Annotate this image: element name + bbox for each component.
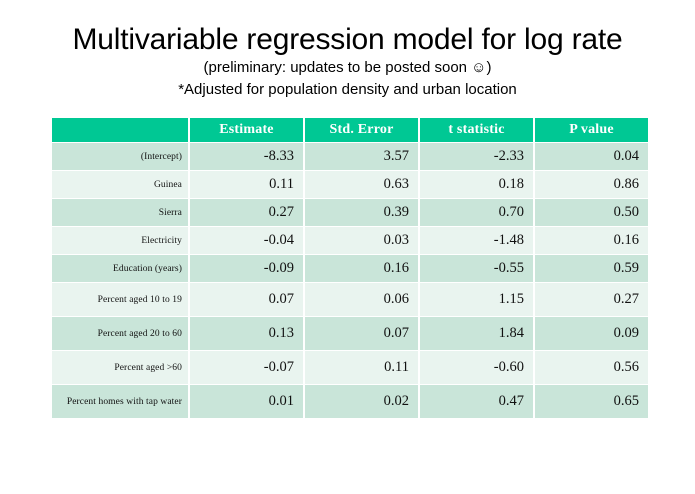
cell-std-error: 0.02 [305,385,418,418]
subtitle-line-2: *Adjusted for population density and urb… [0,80,695,100]
row-label: Percent aged 10 to 19 [52,283,188,316]
cell-p-value: 0.04 [535,143,648,170]
cell-estimate: -0.04 [190,227,303,254]
column-header-t-statistic: t statistic [420,118,533,142]
cell-estimate: -0.07 [190,351,303,384]
row-label: Percent aged >60 [52,351,188,384]
table-row: Education (years) -0.09 0.16 -0.55 0.59 [52,255,648,282]
cell-p-value: 0.65 [535,385,648,418]
cell-p-value: 0.09 [535,317,648,350]
cell-t-statistic: -0.55 [420,255,533,282]
cell-estimate: 0.27 [190,199,303,226]
table-row: Percent homes with tap water 0.01 0.02 0… [52,385,648,418]
column-header-p-value: P value [535,118,648,142]
title-block: Multivariable regression model for log r… [0,24,695,101]
table-row: Percent aged >60 -0.07 0.11 -0.60 0.56 [52,351,648,384]
cell-estimate: 0.07 [190,283,303,316]
column-header-std-error: Std. Error [305,118,418,142]
cell-t-statistic: 1.15 [420,283,533,316]
row-label: Sierra [52,199,188,226]
table-header: Estimate Std. Error t statistic P value [52,118,648,142]
cell-std-error: 0.03 [305,227,418,254]
cell-p-value: 0.86 [535,171,648,198]
cell-t-statistic: 0.47 [420,385,533,418]
row-label: Education (years) [52,255,188,282]
cell-t-statistic: -1.48 [420,227,533,254]
cell-t-statistic: -0.60 [420,351,533,384]
table-row: Guinea 0.11 0.63 0.18 0.86 [52,171,648,198]
cell-std-error: 0.63 [305,171,418,198]
column-header-term [52,118,188,142]
row-label: Percent homes with tap water [52,385,188,418]
cell-t-statistic: 0.18 [420,171,533,198]
column-header-estimate: Estimate [190,118,303,142]
table-body: (Intercept) -8.33 3.57 -2.33 0.04 Guinea… [52,143,648,418]
cell-p-value: 0.27 [535,283,648,316]
row-label: Electricity [52,227,188,254]
cell-p-value: 0.56 [535,351,648,384]
page-title: Multivariable regression model for log r… [0,24,695,56]
cell-std-error: 0.06 [305,283,418,316]
regression-results-table-container: Estimate Std. Error t statistic P value … [50,117,646,419]
cell-estimate: 0.13 [190,317,303,350]
row-label: (Intercept) [52,143,188,170]
table-header-row: Estimate Std. Error t statistic P value [52,118,648,142]
cell-p-value: 0.50 [535,199,648,226]
table-row: Percent aged 20 to 60 0.13 0.07 1.84 0.0… [52,317,648,350]
cell-estimate: -8.33 [190,143,303,170]
cell-std-error: 0.11 [305,351,418,384]
cell-std-error: 0.16 [305,255,418,282]
cell-estimate: 0.11 [190,171,303,198]
subtitle-line-1: (preliminary: updates to be posted soon … [0,58,695,78]
cell-std-error: 0.07 [305,317,418,350]
cell-estimate: -0.09 [190,255,303,282]
row-label: Percent aged 20 to 60 [52,317,188,350]
table-row: Sierra 0.27 0.39 0.70 0.50 [52,199,648,226]
row-label: Guinea [52,171,188,198]
regression-results-table: Estimate Std. Error t statistic P value … [50,117,650,419]
cell-t-statistic: 0.70 [420,199,533,226]
slide-canvas: Multivariable regression model for log r… [0,0,695,494]
cell-p-value: 0.16 [535,227,648,254]
table-row: Percent aged 10 to 19 0.07 0.06 1.15 0.2… [52,283,648,316]
table-row: (Intercept) -8.33 3.57 -2.33 0.04 [52,143,648,170]
cell-std-error: 0.39 [305,199,418,226]
cell-p-value: 0.59 [535,255,648,282]
table-row: Electricity -0.04 0.03 -1.48 0.16 [52,227,648,254]
cell-std-error: 3.57 [305,143,418,170]
cell-t-statistic: -2.33 [420,143,533,170]
cell-estimate: 0.01 [190,385,303,418]
cell-t-statistic: 1.84 [420,317,533,350]
